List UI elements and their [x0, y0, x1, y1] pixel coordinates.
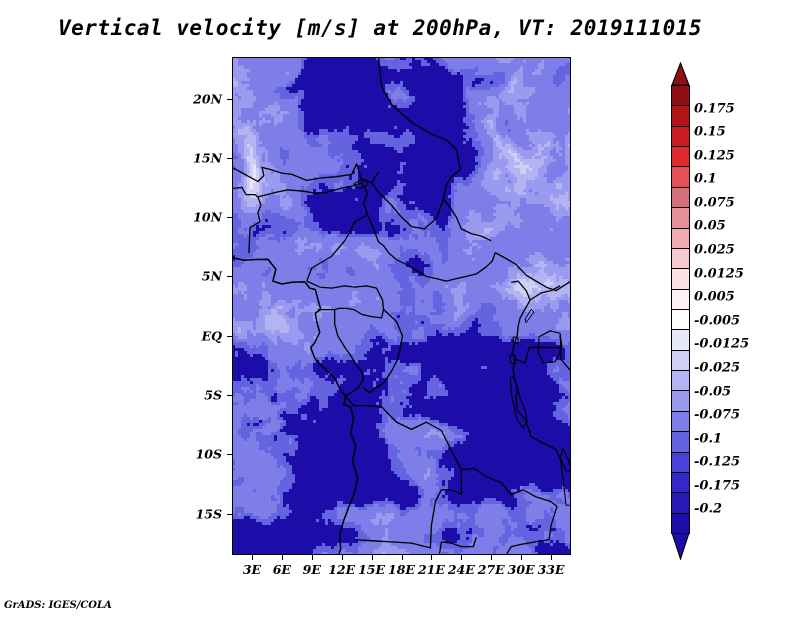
colorbar-tick-label: 0.005	[694, 290, 735, 305]
x-axis-tick-label: 12E	[328, 562, 355, 577]
colorbar-segment	[671, 350, 690, 371]
y-axis-tick	[227, 99, 232, 100]
colorbar-segment	[671, 85, 690, 106]
colorbar-tick-label: -0.0125	[694, 337, 749, 352]
colorbar-tick-label: -0.125	[694, 455, 740, 470]
y-axis-tick-label: 5S	[186, 387, 222, 402]
colorbar-segment	[671, 411, 690, 432]
colorbar-tick-label: 0.075	[694, 195, 735, 210]
colorbar-segment	[671, 146, 690, 167]
y-axis-tick	[227, 454, 232, 455]
colorbar-segment	[671, 513, 690, 534]
y-axis-tick	[227, 276, 232, 277]
colorbar-segment	[671, 268, 690, 289]
colorbar-min-arrow	[671, 533, 690, 560]
colorbar-tick-label: 0.05	[694, 219, 726, 234]
colorbar-segment	[671, 105, 690, 126]
colorbar-segment	[671, 166, 690, 187]
y-axis-tick-label: 5N	[186, 269, 222, 284]
y-axis-tick	[227, 395, 232, 396]
colorbar-tick-label: -0.005	[694, 313, 740, 328]
x-axis-tick	[342, 555, 343, 560]
x-axis-tick	[431, 555, 432, 560]
colorbar-segment	[671, 390, 690, 411]
colorbar-tick-label: 0.0125	[694, 266, 744, 281]
x-axis-tick	[402, 555, 403, 560]
colorbar-tick-label: -0.075	[694, 408, 740, 423]
x-axis-tick-label: 27E	[478, 562, 505, 577]
x-axis-tick	[312, 555, 313, 560]
colorbar	[671, 85, 690, 533]
colorbar-tick-label: 0.125	[694, 148, 735, 163]
colorbar-segment	[671, 431, 690, 452]
y-axis-tick	[227, 217, 232, 218]
colorbar-segment	[671, 472, 690, 493]
x-axis-tick-label: 21E	[418, 562, 445, 577]
colorbar-tick-label: 0.1	[694, 172, 717, 187]
x-axis-tick	[521, 555, 522, 560]
colorbar-tick-label: 0.025	[694, 243, 735, 258]
colorbar-segment	[671, 492, 690, 513]
y-axis-tick	[227, 336, 232, 337]
colorbar-tick-label: 0.15	[694, 125, 726, 140]
y-axis-tick-label: 15S	[186, 506, 222, 521]
colorbar-segment	[671, 309, 690, 330]
colorbar-segment	[671, 452, 690, 473]
footer-credit: GrADS: IGES/COLA	[4, 600, 112, 611]
x-axis-tick-label: 3E	[243, 562, 261, 577]
colorbar-segment	[671, 228, 690, 249]
y-axis-tick	[227, 158, 232, 159]
colorbar-segment	[671, 126, 690, 147]
x-axis-tick	[372, 555, 373, 560]
y-axis-tick	[227, 514, 232, 515]
y-axis-tick-label: EQ	[186, 328, 222, 343]
colorbar-segment	[671, 187, 690, 208]
x-axis-tick-label: 30E	[508, 562, 535, 577]
vertical-velocity-field	[232, 57, 571, 555]
x-axis-tick-label: 24E	[448, 562, 475, 577]
y-axis-tick-label: 10S	[186, 447, 222, 462]
colorbar-segment	[671, 207, 690, 228]
y-axis-tick-label: 20N	[186, 91, 222, 106]
x-axis-tick-label: 18E	[388, 562, 415, 577]
x-axis-tick	[491, 555, 492, 560]
colorbar-segment	[671, 248, 690, 269]
colorbar-tick-label: -0.2	[694, 502, 722, 517]
colorbar-tick-label: -0.05	[694, 384, 731, 399]
x-axis-tick-label: 33E	[538, 562, 565, 577]
y-axis-tick-label: 10N	[186, 210, 222, 225]
colorbar-max-arrow	[671, 62, 690, 85]
x-axis-tick-label: 6E	[273, 562, 291, 577]
x-axis-tick	[551, 555, 552, 560]
x-axis-tick	[282, 555, 283, 560]
map-plot-area	[232, 57, 571, 555]
page-title: Vertical velocity [m/s] at 200hPa, VT: 2…	[0, 16, 760, 40]
colorbar-segment	[671, 329, 690, 350]
colorbar-tick-label: -0.175	[694, 478, 740, 493]
x-axis-tick	[252, 555, 253, 560]
colorbar-tick-label: -0.1	[694, 431, 722, 446]
x-axis-tick	[461, 555, 462, 560]
colorbar-tick-label: -0.025	[694, 360, 740, 375]
x-axis-tick-label: 9E	[303, 562, 321, 577]
x-axis-tick-label: 15E	[358, 562, 385, 577]
colorbar-segment	[671, 370, 690, 391]
y-axis-tick-label: 15N	[186, 150, 222, 165]
colorbar-tick-label: 0.175	[694, 101, 735, 116]
colorbar-segment	[671, 289, 690, 310]
